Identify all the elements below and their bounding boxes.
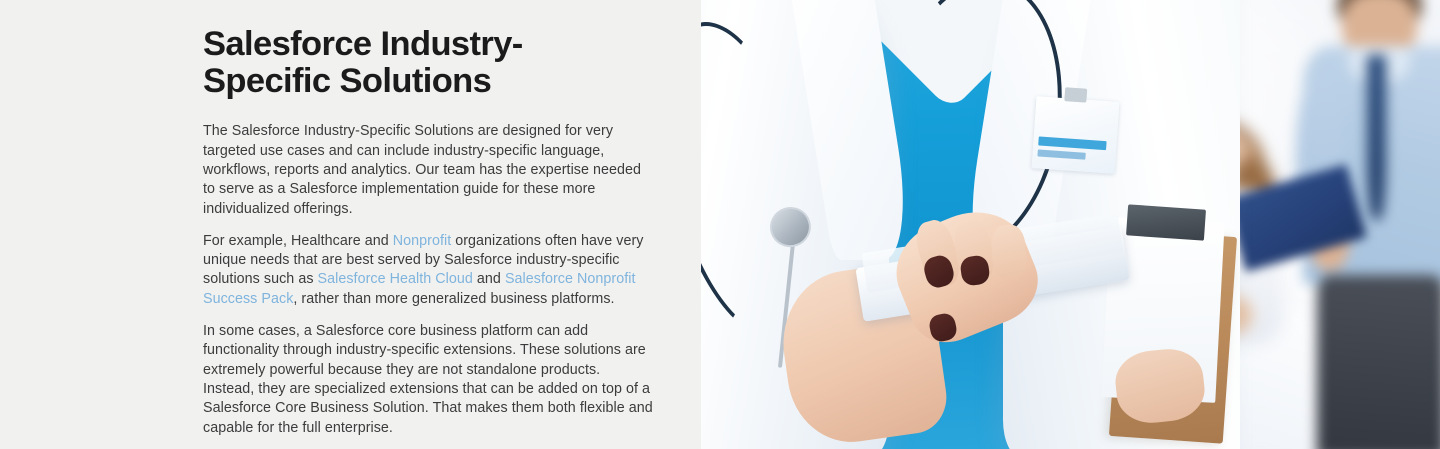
doctor-foreground [701,0,1189,449]
examples-text-1: For example, Healthcare and [203,233,393,249]
hero-image-panel [701,0,1440,449]
examples-text-3: and [473,271,505,287]
paragraph-extensions: In some cases, a Salesforce core busines… [203,322,655,438]
id-badge-clip [1064,86,1086,102]
link-nonprofit[interactable]: Nonprofit [393,233,451,249]
paragraph-extensions-text: In some cases, a Salesforce core busines… [203,323,653,436]
link-salesforce-health-cloud[interactable]: Salesforce Health Cloud [318,271,473,287]
id-badge [1031,96,1119,173]
hero-photo [701,0,1440,449]
page-title: Salesforce Industry-Specific Solutions [203,26,633,99]
paragraph-examples: For example, Healthcare and Nonprofit or… [203,232,655,310]
clipboard-metal-clip [1126,204,1206,241]
id-badge-stripe-2 [1037,149,1085,160]
examples-text-4: , rather than more generalized business … [293,291,614,307]
man-trousers [1317,275,1440,449]
paragraph-intro: The Salesforce Industry-Specific Solutio… [203,122,655,219]
paragraph-intro-text: The Salesforce Industry-Specific Solutio… [203,123,641,217]
body-copy: The Salesforce Industry-Specific Solutio… [203,122,655,438]
man-tie [1367,55,1387,220]
id-badge-stripe [1038,136,1106,150]
industry-solutions-section: Salesforce Industry-Specific Solutions T… [0,0,1440,449]
text-panel: Salesforce Industry-Specific Solutions T… [0,0,701,449]
doctor-finger-3 [990,223,1027,279]
